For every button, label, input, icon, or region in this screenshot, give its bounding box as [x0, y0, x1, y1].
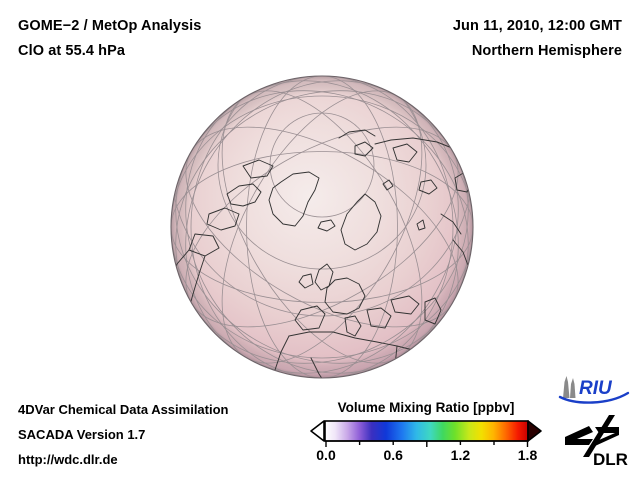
- website-link[interactable]: http://wdc.dlr.de: [18, 452, 118, 467]
- method-label: 4DVar Chemical Data Assimilation: [18, 402, 229, 417]
- colorbar-tick-label-3: 1.8: [518, 447, 537, 463]
- over-range-arrow: [528, 421, 541, 441]
- species-level-label: ClO at 55.4 hPa: [18, 43, 125, 59]
- colorbar-tick-label-2: 1.2: [451, 447, 470, 463]
- dlr-wordmark: DLR: [593, 450, 628, 469]
- riu-wordmark: RIU: [579, 378, 613, 399]
- colorbar-scale: [306, 419, 546, 447]
- page-title: GOME−2 / MetOp Analysis: [18, 18, 201, 34]
- riu-logo: RIU: [556, 372, 632, 406]
- colorbar: Volume Mixing Ratio [ppbv]: [306, 400, 546, 472]
- colorbar-ticks: [326, 441, 528, 447]
- colorbar-tick-label-0: 0.0: [316, 447, 335, 463]
- version-label: SACADA Version 1.7: [18, 427, 145, 442]
- visualization-page: GOME−2 / MetOp Analysis ClO at 55.4 hPa …: [0, 0, 640, 480]
- colorbar-gradient: [325, 421, 528, 441]
- riu-tower-icon: [563, 376, 576, 398]
- globe-map: [169, 74, 475, 380]
- datetime-label: Jun 11, 2010, 12:00 GMT: [453, 18, 622, 34]
- region-label: Northern Hemisphere: [472, 43, 622, 59]
- orthographic-projection-svg: [169, 74, 475, 380]
- dlr-logo: DLR: [563, 413, 633, 469]
- colorbar-title: Volume Mixing Ratio [ppbv]: [306, 400, 546, 415]
- colorbar-tick-label-1: 0.6: [383, 447, 402, 463]
- under-range-arrow: [311, 421, 324, 441]
